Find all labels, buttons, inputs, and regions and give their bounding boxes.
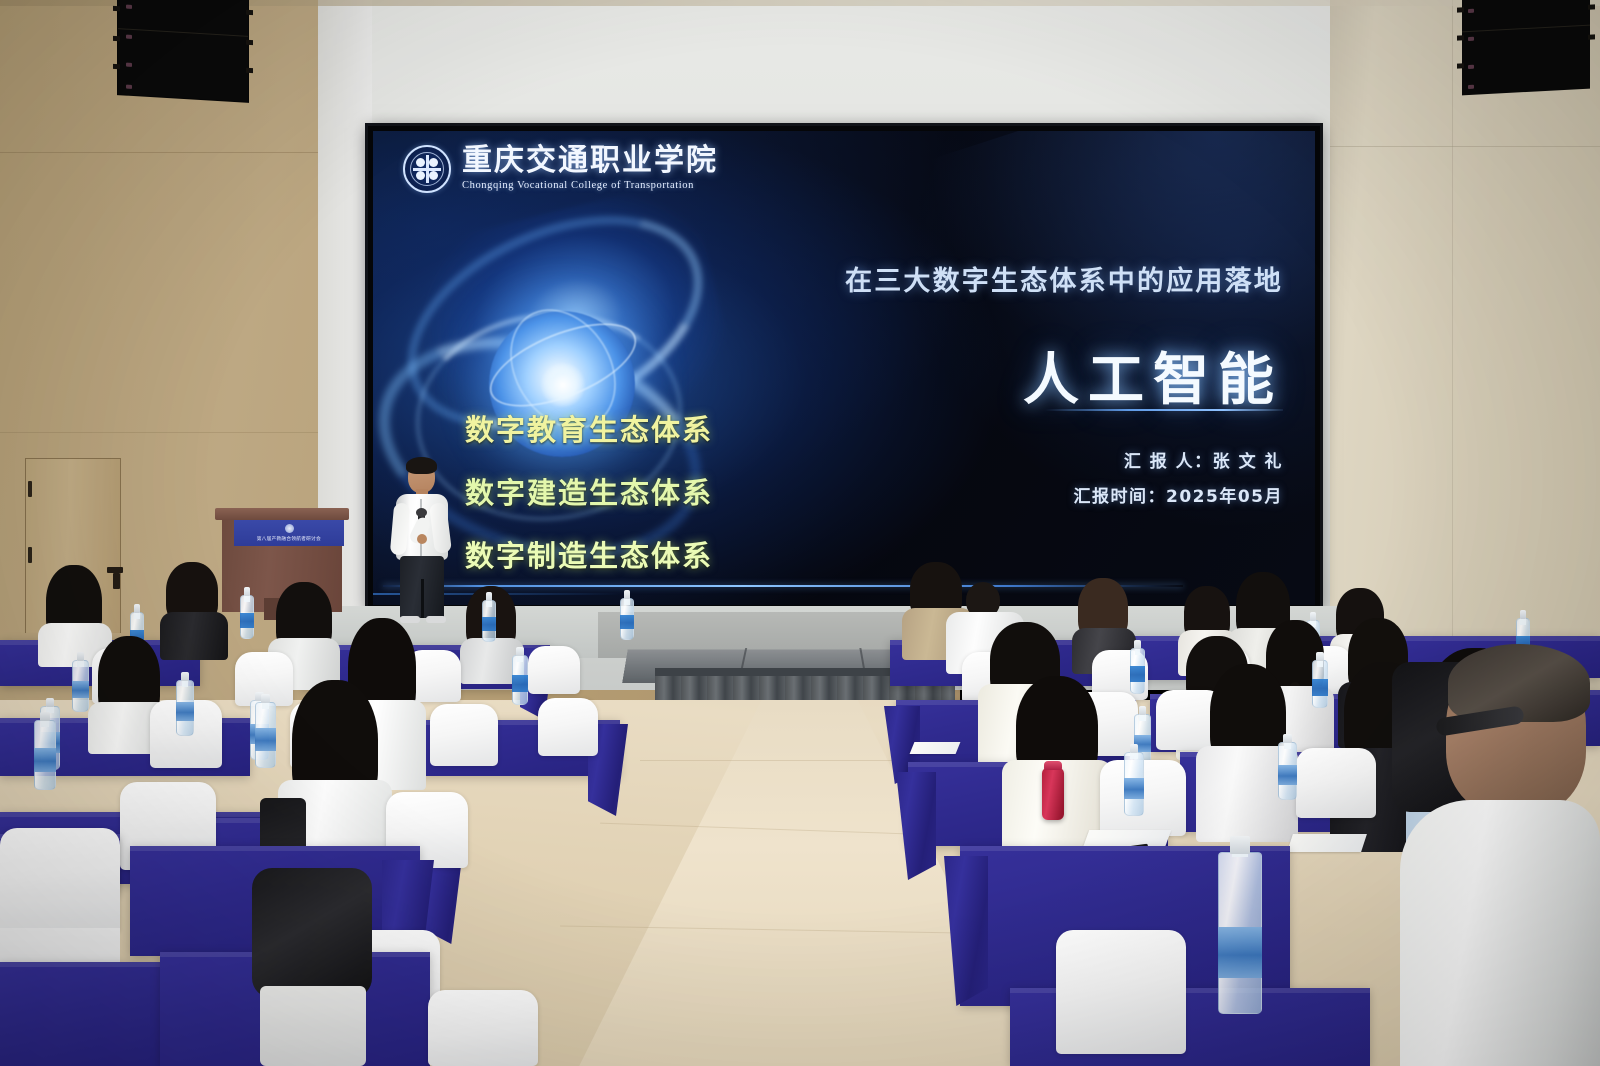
lectern-top [215,508,349,520]
ecosystem-item: 数字教育生态体系 [465,407,795,449]
slide-title: 人工智能 [853,335,1283,416]
chair [428,990,538,1066]
attendee [160,562,226,654]
led-presentation-screen: 重庆交通职业学院 Chongqing Vocational College of… [368,126,1320,610]
attendee-shirt [1400,800,1600,1066]
water-bottle [176,680,194,736]
water-bottle [34,720,56,790]
slide-canvas: 重庆交通职业学院 Chongqing Vocational College of… [373,131,1315,605]
chair [0,828,120,933]
line-array-speaker-left-icon [118,0,248,102]
college-emblem-icon [403,145,451,193]
college-name-en: Chongqing Vocational College of Transpor… [462,181,718,192]
foreground-attendee [1400,650,1600,1066]
wall-seam [1452,0,1453,700]
handout-paper [1287,834,1367,852]
red-thermos [1042,768,1064,820]
presenter-hair [406,457,437,474]
line-array-speaker-right-icon [1462,0,1590,95]
conference-hall-scene: 重庆交通职业学院 Chongqing Vocational College of… [0,0,1600,1066]
water-bottle [255,702,276,768]
lectern-emblem-icon [285,524,294,533]
water-bottle [240,595,254,639]
water-bottle [1124,752,1144,816]
water-bottle [1312,660,1328,708]
report-date-line: 汇报时间：2025年05月 [913,482,1283,507]
lectern-banner-text: 第八届产教融合领航者研讨会 [257,535,321,542]
presenter-speaker [386,455,458,623]
chair [1056,930,1186,1054]
microphone-head-icon [416,508,427,517]
chair [528,646,580,694]
handout-paper [910,742,961,754]
attendee-torso [252,868,372,998]
title-underline [1045,409,1283,411]
slide-subtitle: 在三大数字生态体系中的应用落地 [713,259,1283,298]
water-bottle [620,598,634,640]
presenter-line: 汇 报 人：张 文 礼 [913,447,1283,472]
water-bottle [1130,648,1145,694]
college-name-cn: 重庆交通职业学院 [462,146,718,176]
attendee [252,868,372,1066]
table-row [0,962,180,1066]
water-bottle [72,660,89,712]
ecosystem-list: 数字教育生态体系 数字建造生态体系 数字制造生态体系 [465,407,795,596]
wall-seam [0,432,330,433]
water-bottle [482,600,496,642]
chair [430,704,498,766]
water-bottle [1218,852,1262,1014]
ecosystem-item: 数字制造生态体系 [465,533,795,575]
water-bottle [1278,742,1297,800]
chair-cover [260,986,366,1066]
chair [1296,748,1376,818]
college-logo: 重庆交通职业学院 Chongqing Vocational College of… [403,145,718,193]
lectern-banner: 第八届产教融合领航者研讨会 [234,520,344,546]
ecosystem-item: 数字建造生态体系 [465,470,795,512]
chair [538,698,598,756]
water-bottle [512,655,528,705]
wall-seam [1330,146,1600,147]
